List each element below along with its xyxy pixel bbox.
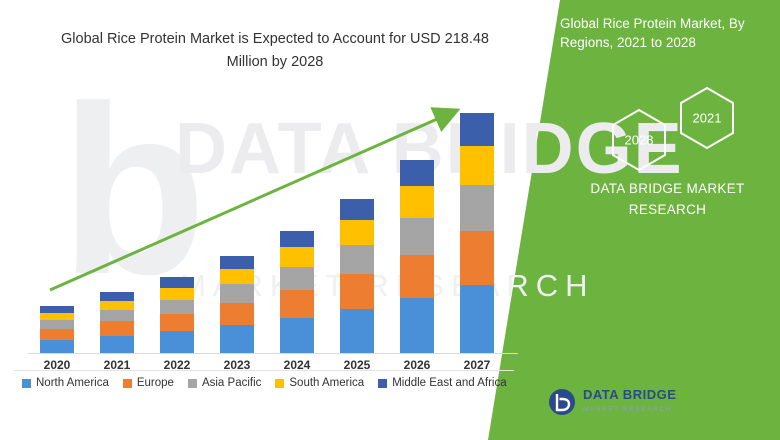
growth-arrow-icon	[0, 0, 780, 440]
data-bridge-logo: DATA BRIDGE MARKET RESEARCH	[548, 388, 676, 416]
logo-sub-text: MARKET RESEARCH	[583, 403, 676, 416]
legend-swatch-icon	[275, 379, 284, 388]
legend-label: South America	[289, 377, 364, 389]
legend-item-asia-pacific[interactable]: Asia Pacific	[188, 377, 261, 389]
legend-swatch-icon	[378, 379, 387, 388]
chart-canvas: b DATA BRIDGE MARKET RESEARCH Global Ric…	[0, 0, 780, 440]
legend-divider	[14, 370, 514, 371]
legend-item-middle-east-and-africa[interactable]: Middle East and Africa	[378, 377, 506, 389]
legend-swatch-icon	[123, 379, 132, 388]
legend-label: North America	[36, 377, 109, 389]
legend-swatch-icon	[22, 379, 31, 388]
legend-swatch-icon	[188, 379, 197, 388]
legend-item-south-america[interactable]: South America	[275, 377, 364, 389]
legend-label: Middle East and Africa	[392, 377, 506, 389]
legend-label: Asia Pacific	[202, 377, 261, 389]
data-bridge-logo-icon	[548, 388, 576, 416]
chart-legend: North AmericaEuropeAsia PacificSouth Ame…	[22, 377, 521, 389]
legend-item-europe[interactable]: Europe	[123, 377, 174, 389]
legend-label: Europe	[137, 377, 174, 389]
legend-item-north-america[interactable]: North America	[22, 377, 109, 389]
logo-main-text: DATA BRIDGE	[583, 388, 676, 401]
